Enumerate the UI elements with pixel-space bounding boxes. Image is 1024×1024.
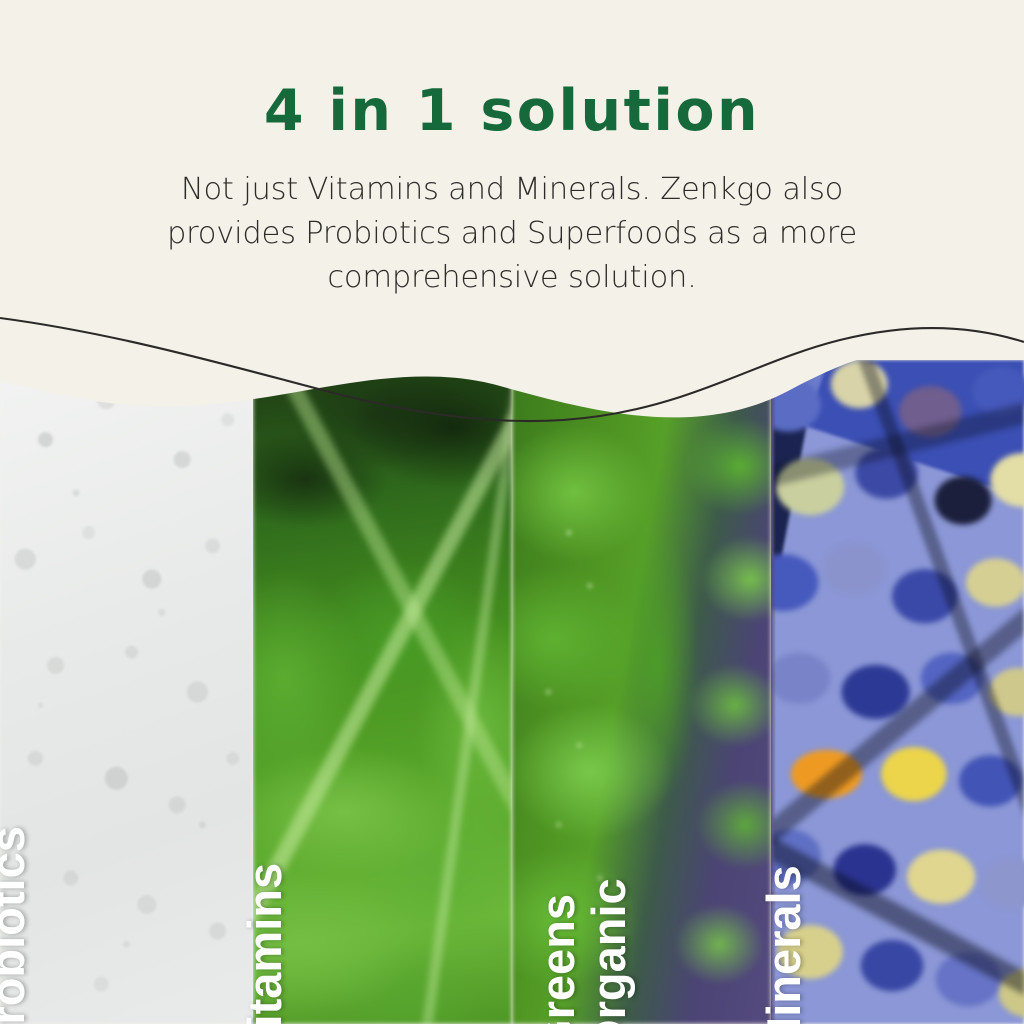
image-strip bbox=[0, 360, 1024, 1024]
probiotics-photo bbox=[0, 360, 253, 1024]
page-subtitle: Not just Vitamins and Minerals. Zenkgo a… bbox=[112, 168, 912, 300]
label-organic-greens-line1: Organic bbox=[585, 878, 633, 1024]
label-vitamins: Vitamins bbox=[241, 863, 289, 1024]
label-minerals: Minerals bbox=[760, 865, 808, 1024]
label-organic-greens-line2: Greens bbox=[534, 894, 582, 1024]
label-probiotics: Probiotics bbox=[0, 826, 32, 1024]
column-probiotics bbox=[0, 360, 253, 1024]
vitamins-photo bbox=[253, 360, 512, 1024]
header-block: 4 in 1 solution Not just Vitamins and Mi… bbox=[0, 0, 1024, 300]
poster-canvas: Probiotics Vitamins Organic Greens Miner… bbox=[0, 0, 1024, 1024]
column-vitamins bbox=[253, 360, 512, 1024]
page-title: 4 in 1 solution bbox=[0, 78, 1024, 144]
